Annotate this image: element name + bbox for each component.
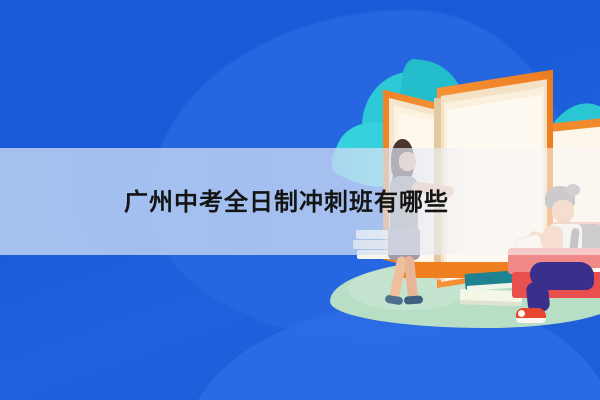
page-title: 广州中考全日制冲刺班有哪些	[124, 190, 449, 214]
boy-shoe-sole	[516, 318, 546, 323]
woman-shoe	[404, 295, 424, 304]
boy-shoe-lace	[518, 310, 525, 317]
promo-banner: 广州中考全日制冲刺班有哪些	[0, 0, 600, 400]
title-band: 广州中考全日制冲刺班有哪些	[0, 148, 600, 255]
